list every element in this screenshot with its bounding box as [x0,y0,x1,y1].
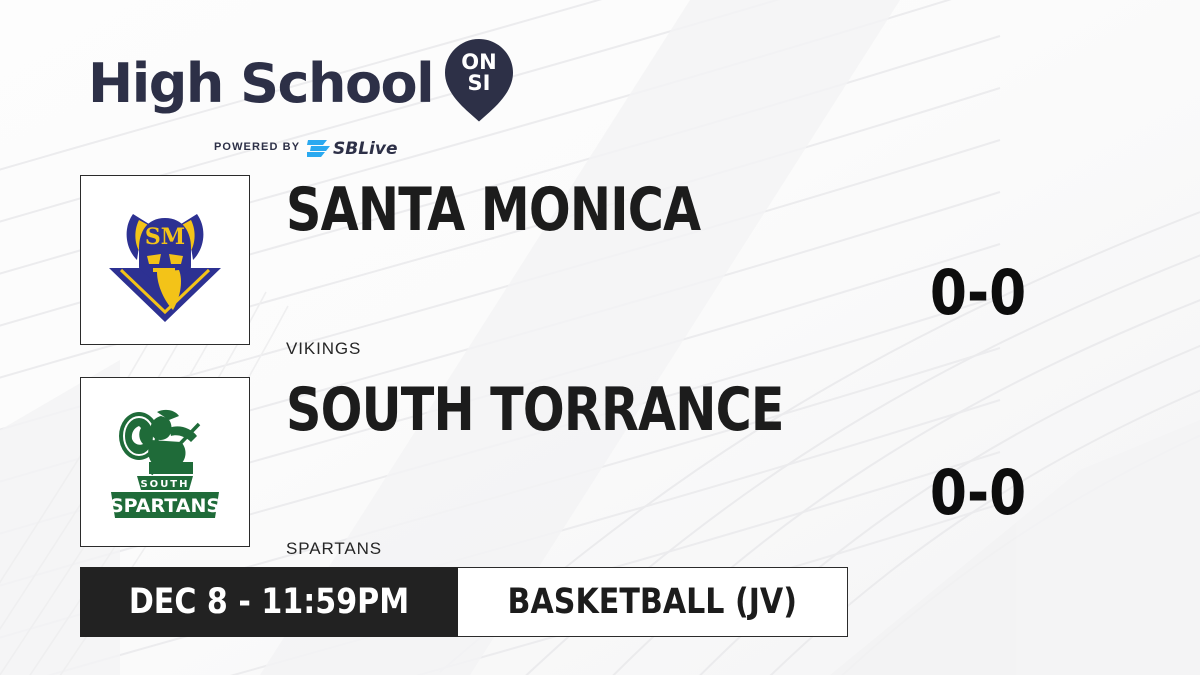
powered-by-label: POWERED BY [214,141,300,153]
team-name-home: SANTA MONICA [286,180,700,240]
sblive-s-mark [307,140,330,157]
powered-by-row: POWERED BY SBLive [110,136,515,158]
sblive-logo: SBLive [307,136,411,158]
game-sport: BASKETBALL (JV) [458,567,848,637]
spartans-wordmark: SPARTANS [110,495,220,517]
pin-label-si: SI [468,71,491,95]
sblive-wordmark: SBLive [333,139,397,158]
vikings-monogram: SM [145,224,185,250]
game-datetime: DEC 8 - 11:59PM [80,567,458,637]
team-mascot-home: VIKINGS [286,339,361,359]
game-datetime-text: DEC 8 - 11:59PM [129,582,409,622]
team-score-away: 0-0 [930,462,1026,524]
game-info-banner: DEC 8 - 11:59PM BASKETBALL (JV) [80,567,848,637]
team-mascot-away: SPARTANS [286,539,382,559]
game-sport-text: BASKETBALL (JV) [508,582,797,622]
brand-header: High School ON SI POWERED BY SBLive [88,38,515,158]
south-torrance-spartans-logo: SOUTH SPARTANS [95,392,235,532]
team-name-away: SOUTH TORRANCE [286,380,784,440]
brand-title-row: High School ON SI [88,38,515,129]
spartans-south-label: SOUTH [140,479,189,490]
team-logo-box-away: SOUTH SPARTANS [80,377,250,547]
team-score-home: 0-0 [930,262,1026,324]
team-logo-box-home: SM [80,175,250,345]
on-si-location-pin-icon: ON SI [443,36,515,129]
page-title: High School [88,57,433,111]
santa-monica-vikings-logo: SM [95,190,235,330]
